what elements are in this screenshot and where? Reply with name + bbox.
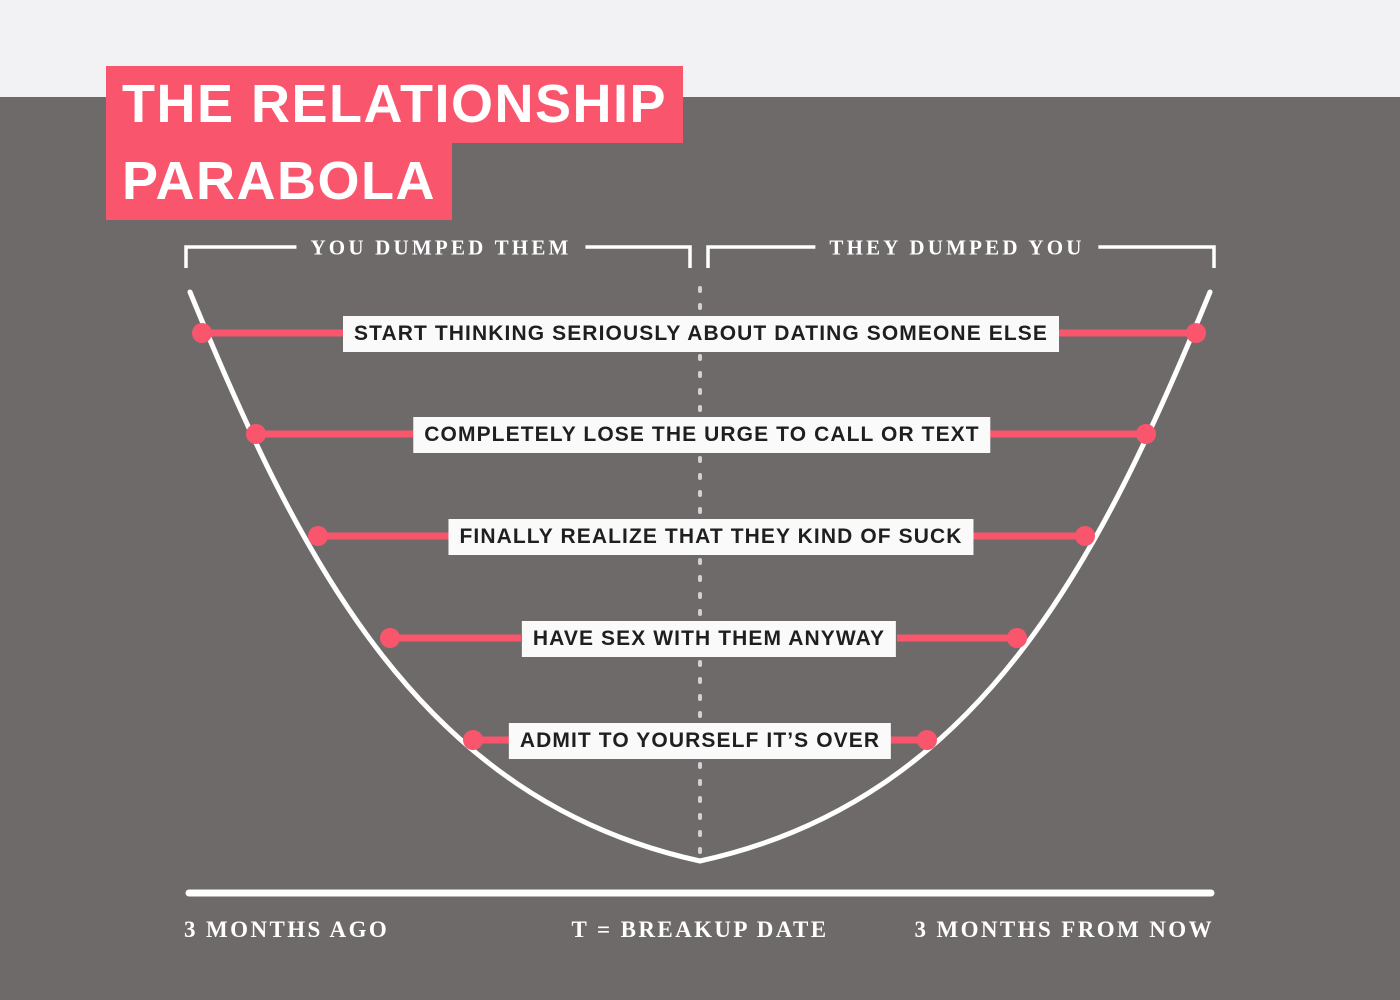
bracket-label-they-dumped-you: THEY DUMPED YOU: [815, 236, 1098, 261]
axis-label-start: 3 MONTHS AGO: [184, 917, 389, 943]
title-line-2: PARABOLA: [106, 143, 452, 220]
bracket-label-you-dumped-them: YOU DUMPED THEM: [296, 236, 585, 261]
infographic-poster: THE RELATIONSHIP PARABOLA: [0, 0, 1400, 1000]
milestone-dot-right-1: [1186, 323, 1206, 343]
milestone-label-3: FINALLY REALIZE THAT THEY KIND OF SUCK: [448, 519, 973, 555]
milestone-label-1: START THINKING SERIOUSLY ABOUT DATING SO…: [343, 316, 1059, 352]
milestone-dot-right-4: [1007, 628, 1027, 648]
milestone-dot-left-1: [192, 323, 212, 343]
milestone-dot-left-4: [380, 628, 400, 648]
milestone-label-5: ADMIT TO YOURSELF IT’S OVER: [509, 723, 891, 759]
milestone-dot-left-2: [246, 424, 266, 444]
milestone-dot-left-3: [308, 526, 328, 546]
page-title: THE RELATIONSHIP PARABOLA: [106, 66, 683, 220]
title-line-1: THE RELATIONSHIP: [106, 66, 683, 143]
milestone-dot-right-3: [1075, 526, 1095, 546]
axis-label-end: 3 MONTHS FROM NOW: [914, 917, 1214, 943]
milestone-dot-right-5: [917, 730, 937, 750]
milestone-label-4: HAVE SEX WITH THEM ANYWAY: [522, 621, 896, 657]
axis-label-breakup-date: T = BREAKUP DATE: [571, 917, 828, 943]
milestone-dot-left-5: [463, 730, 483, 750]
milestone-dot-right-2: [1136, 424, 1156, 444]
milestone-label-2: COMPLETELY LOSE THE URGE TO CALL OR TEXT: [413, 417, 990, 453]
